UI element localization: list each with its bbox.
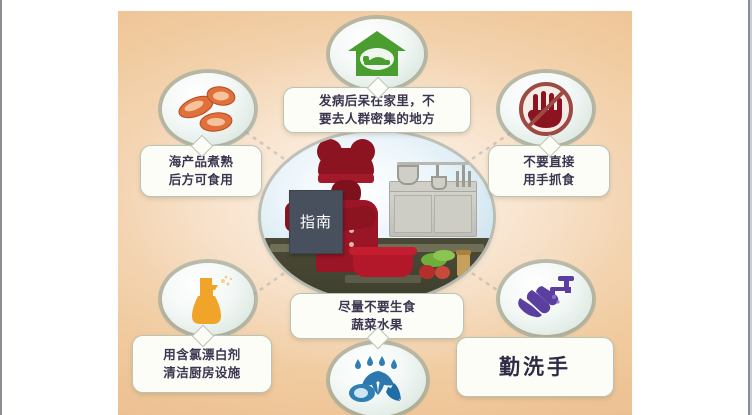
no-hand-glyph: [514, 80, 578, 138]
house-bed-glyph: [346, 29, 408, 79]
ladle-bowl-icon: [431, 176, 447, 190]
shellfish-glyph: [172, 81, 244, 137]
callout-stay-home-line2: 要去人群密集的地方: [319, 110, 435, 128]
callout-no-raw-produce-line1: 尽量不要生食: [338, 298, 415, 316]
whisk-wire-2-icon: [456, 171, 459, 187]
pot-lid-icon: [349, 247, 417, 255]
center-illustration: 指南: [261, 132, 493, 301]
handwash-glyph: [514, 272, 578, 326]
infographic-poster: 指南 发病后呆在家里，不 要去人群密集的地方: [118, 11, 632, 415]
whisk-wire-icon: [468, 171, 471, 187]
callout-cook-seafood[interactable]: 海产品煮熟 后方可食用: [140, 145, 262, 197]
callout-no-bare-hands[interactable]: 不要直接 用手抓食: [488, 145, 610, 197]
callout-bleach-clean-line1: 用含氯漂白剂: [163, 346, 240, 364]
callout-stay-home[interactable]: 发病后呆在家里，不 要去人群密集的地方: [283, 87, 471, 133]
callout-no-raw-produce[interactable]: 尽量不要生食 蔬菜水果: [290, 293, 464, 339]
spray-bottle-glyph: [179, 270, 237, 328]
spray-bottle-icon[interactable]: [162, 263, 254, 335]
no-hand-icon[interactable]: [500, 73, 592, 145]
callout-wash-hands[interactable]: 勤洗手: [456, 337, 614, 397]
callout-wash-hands-text: 勤洗手: [499, 352, 571, 382]
cooking-pot-icon: [353, 253, 413, 277]
jar-cap-icon: [456, 250, 471, 255]
washed-vegetables-icon[interactable]: [330, 344, 426, 415]
greens-icon: [433, 250, 455, 261]
tomato-icon: [419, 265, 435, 279]
callout-bleach-clean-line2: 清洁厨房设施: [163, 364, 240, 382]
frying-pan-icon: [397, 165, 419, 185]
vegetables-water-glyph: [344, 353, 412, 407]
guide-sign-text: 指南: [300, 214, 332, 231]
tomato-2-icon: [435, 266, 450, 279]
callout-bleach-clean[interactable]: 用含氯漂白剂 清洁厨房设施: [132, 335, 272, 393]
jar-icon: [457, 253, 470, 277]
whisk-icon: [462, 165, 465, 187]
left-frame-border: [0, 0, 2, 415]
guide-sign: 指南: [289, 190, 343, 254]
handwashing-faucet-icon[interactable]: [500, 263, 592, 335]
shellfish-icon[interactable]: [162, 73, 254, 145]
callout-cook-seafood-line2: 后方可食用: [169, 171, 234, 189]
callout-no-bare-hands-line2: 用手抓食: [523, 171, 575, 189]
